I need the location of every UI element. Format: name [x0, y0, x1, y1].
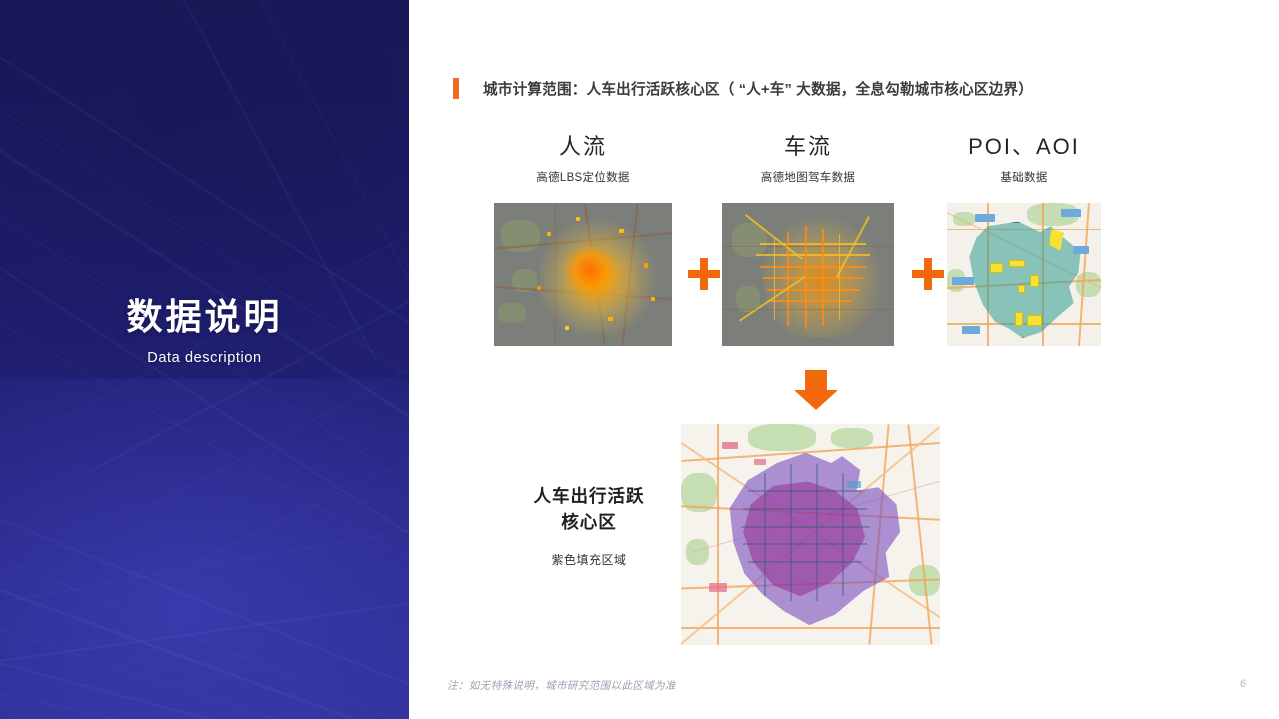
- headline-text: 城市计算范围：人车出行活跃核心区（ “人+车” 大数据，全息勾勒城市核心区边界）: [483, 78, 1033, 99]
- vehicle-flow-map-image: [722, 203, 894, 346]
- result-title-line2: 核心区: [487, 509, 691, 535]
- result-title-line1: 人车出行活跃: [487, 483, 691, 509]
- sidebar-title-block: 数据说明 Data description: [0, 296, 409, 366]
- result-subtitle: 紫色填充区域: [487, 551, 691, 568]
- page-number: 6: [1240, 678, 1246, 690]
- sidebar-panel: 数据说明 Data description: [0, 0, 409, 719]
- plus-icon: [688, 258, 720, 290]
- source-title: 车流: [722, 134, 894, 160]
- headline: 城市计算范围：人车出行活跃核心区（ “人+车” 大数据，全息勾勒城市核心区边界）: [453, 78, 1033, 99]
- source-header-people-flow: 人流 高德LBS定位数据: [494, 134, 672, 185]
- page-title: 数据说明: [0, 296, 409, 337]
- source-header-vehicle-flow: 车流 高德地图驾车数据: [722, 134, 894, 185]
- page-subtitle: Data description: [0, 350, 409, 366]
- source-header-poi-aoi: POI、AOI 基础数据: [947, 134, 1101, 185]
- source-title: 人流: [494, 134, 672, 160]
- source-subtitle: 基础数据: [947, 169, 1101, 185]
- source-subtitle: 高德LBS定位数据: [494, 169, 672, 185]
- headline-accent-bar: [453, 78, 459, 99]
- result-label: 人车出行活跃 核心区 紫色填充区域: [487, 483, 691, 568]
- plus-icon: [912, 258, 944, 290]
- down-arrow-icon: [794, 370, 838, 410]
- source-title: POI、AOI: [947, 134, 1101, 160]
- footer-note: 注：如无特殊说明，城市研究范围以此区域为准: [447, 678, 676, 693]
- source-subtitle: 高德地图驾车数据: [722, 169, 894, 185]
- aoi-polygon: [967, 222, 1083, 338]
- people-flow-map-image: [494, 203, 672, 346]
- poi-aoi-map-image: [947, 203, 1101, 346]
- core-area-result-map-image: [681, 424, 940, 645]
- slide-root: 数据说明 Data description 城市计算范围：人车出行活跃核心区（ …: [0, 0, 1279, 719]
